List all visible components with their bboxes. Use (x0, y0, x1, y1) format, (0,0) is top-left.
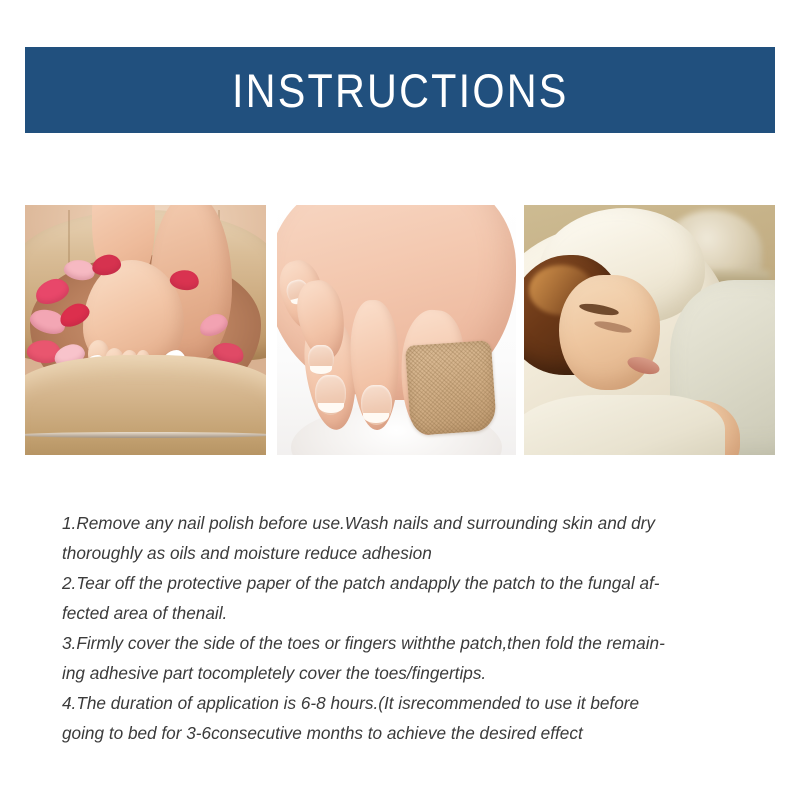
instruction-line: 2.Tear off the protective paper of the p… (62, 568, 762, 598)
bucket-metal-hoop (25, 432, 266, 438)
toenail (315, 375, 346, 415)
instruction-line: 3.Firmly cover the side of the toes or f… (62, 628, 762, 658)
photo-foot-spa-soak (25, 205, 266, 455)
instruction-line: 1.Remove any nail polish before use.Wash… (62, 508, 762, 538)
instruction-line: ing adhesive part tocompletely cover the… (62, 658, 762, 688)
foot-spa-scene (25, 205, 266, 455)
nail-patch (405, 340, 497, 436)
page-title: INSTRUCTIONS (232, 67, 569, 114)
photo-woman-sleeping (524, 205, 775, 455)
sleeping-scene (524, 205, 775, 455)
wooden-bucket-front (25, 355, 266, 455)
photo-toe-patch-applied (277, 205, 516, 455)
photo-strip (25, 205, 775, 455)
instruction-line: thoroughly as oils and moisture reduce a… (62, 538, 762, 568)
toenail (361, 385, 392, 425)
instruction-line: 4.The duration of application is 6-8 hou… (62, 688, 762, 718)
toenail (308, 345, 334, 375)
instructions-text-block: 1.Remove any nail polish before use.Wash… (62, 508, 762, 748)
toe-patch-scene (277, 205, 516, 455)
instruction-line: going to bed for 3-6consecutive months t… (62, 718, 762, 748)
instructions-banner: INSTRUCTIONS (25, 47, 775, 133)
instruction-line: fected area of thenail. (62, 598, 762, 628)
bed-sheet (524, 395, 725, 455)
